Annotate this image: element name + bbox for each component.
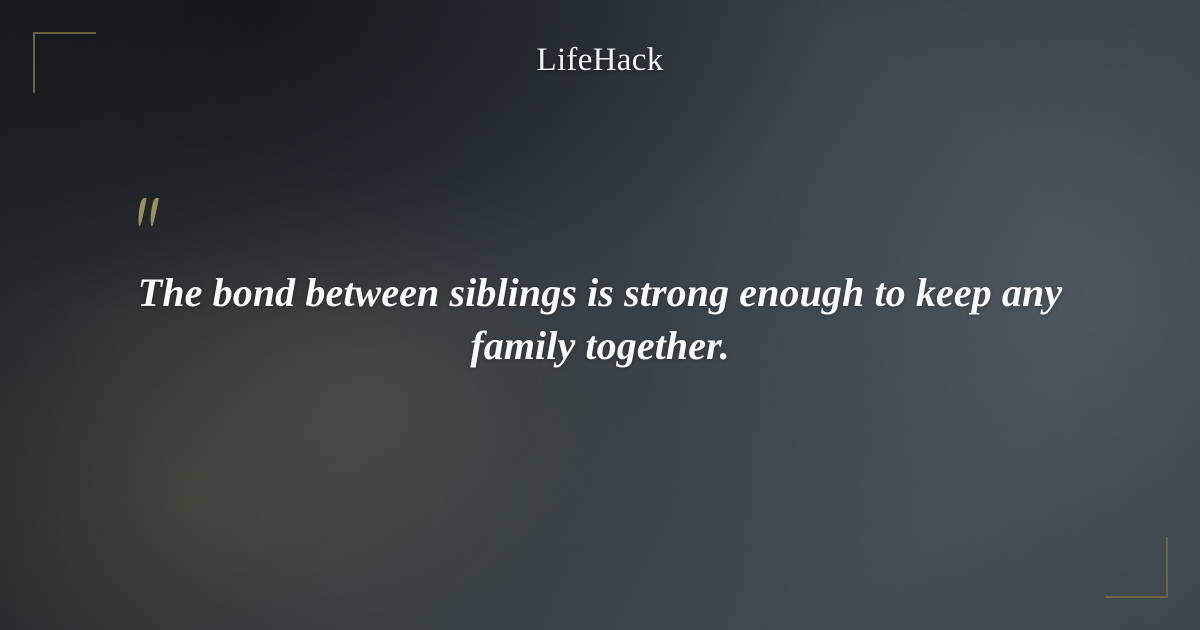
quote-text: The bond between siblings is strong enou… bbox=[120, 266, 1080, 372]
corner-bracket-bottom-right-horizontal bbox=[1105, 596, 1168, 598]
corner-bracket-top-left-horizontal bbox=[33, 32, 96, 34]
corner-bracket-bottom-right bbox=[1105, 537, 1168, 598]
quote-card: LifeHack The bond between siblings is st… bbox=[0, 0, 1200, 630]
brand-logo: LifeHack bbox=[0, 40, 1200, 80]
corner-bracket-bottom-right-vertical bbox=[1166, 537, 1168, 598]
quote-mark-icon bbox=[132, 194, 180, 242]
